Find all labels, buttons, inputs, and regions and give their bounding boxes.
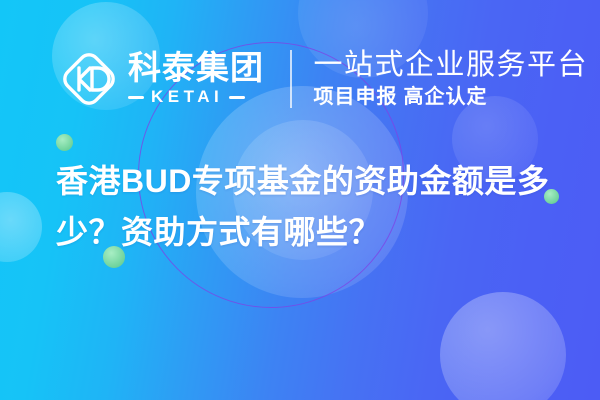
ketai-monogram-icon — [58, 48, 120, 110]
decorative-circle-left-edge — [0, 192, 42, 262]
decorative-dot-green-1 — [56, 134, 73, 151]
logo-company-cn: 科泰集团 — [128, 51, 264, 85]
logo-wordmark: 科泰集团 KETAI — [128, 51, 264, 108]
decorative-circle-bottom-right — [440, 292, 566, 400]
promo-banner: 科泰集团 KETAI 一站式企业服务平台 项目申报 高企认定 香港BUD专项基金… — [0, 0, 600, 400]
slogan-block: 一站式企业服务平台 项目申报 高企认定 — [314, 49, 589, 108]
logo-company-en: KETAI — [151, 87, 223, 107]
slogan-main: 一站式企业服务平台 — [314, 49, 589, 81]
logo-rule-right — [229, 96, 245, 99]
banner-title: 香港BUD专项基金的资助金额是多少？资助方式有哪些？ — [56, 156, 566, 257]
slogan-sub: 项目申报 高企认定 — [314, 86, 589, 109]
logo-company-en-row: KETAI — [128, 87, 264, 107]
banner-header: 科泰集团 KETAI 一站式企业服务平台 项目申报 高企认定 — [58, 38, 588, 120]
logo-rule-left — [128, 96, 144, 99]
header-divider — [290, 50, 292, 108]
